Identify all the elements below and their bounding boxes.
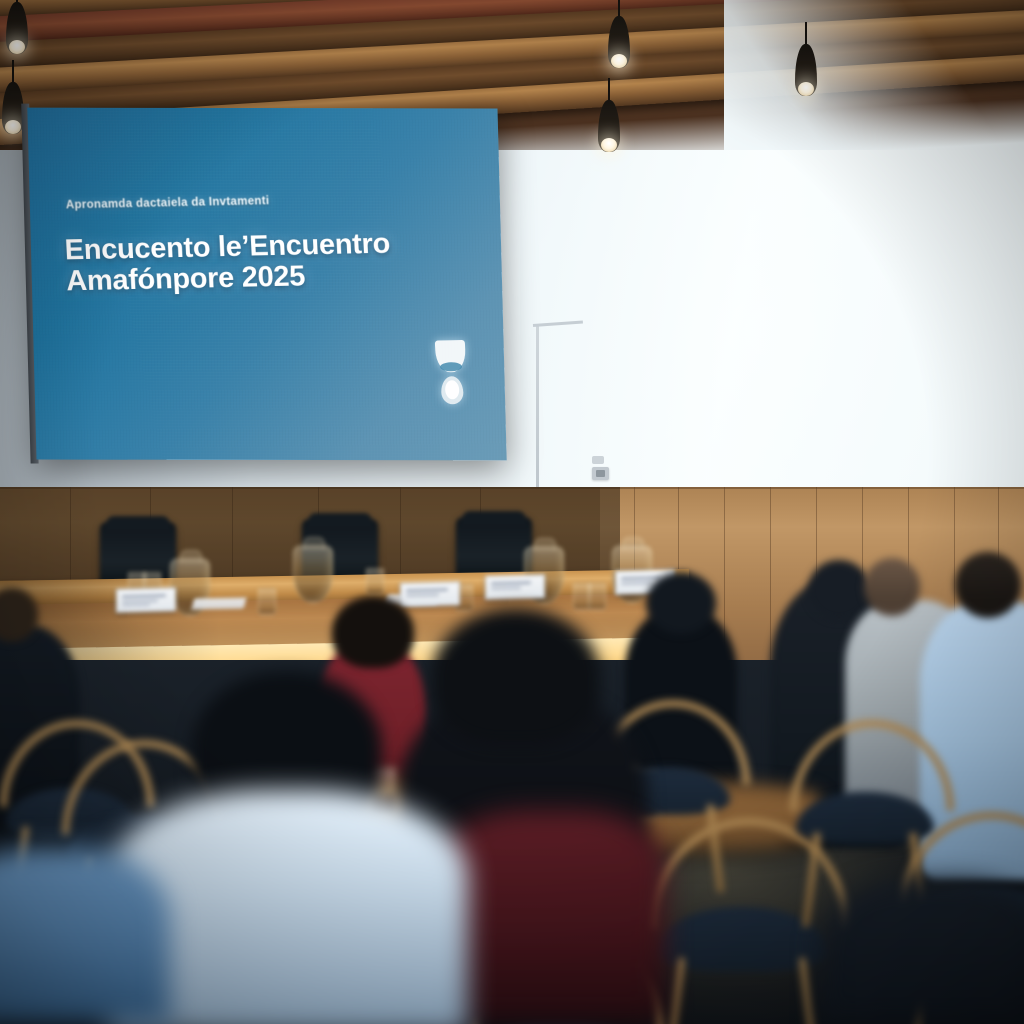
projected-slide: Apronamda dactaiela da Invtamenti Encuce… — [27, 108, 506, 461]
audience-head-curly-foreground — [432, 608, 600, 744]
audience-head-dark-hair-center — [646, 572, 716, 634]
placard-text-line — [406, 594, 439, 597]
cup-and-drop-logo-icon — [433, 340, 470, 409]
panel-glass-3 — [258, 588, 276, 615]
placard-text-line — [122, 594, 166, 597]
lamp-bulb — [5, 120, 21, 134]
audience-head-lightblue-shirt — [955, 552, 1021, 618]
placard-text-line — [491, 587, 521, 590]
audience-shoulder-red-foreground — [436, 810, 666, 1024]
name-placard-1 — [116, 587, 176, 613]
audience-head-bald-grey — [864, 558, 920, 616]
name-placard-2 — [400, 581, 460, 607]
lamp-bulb — [798, 82, 814, 96]
placard-text-line — [406, 589, 448, 592]
logo-cup-shape — [435, 340, 467, 373]
audience-person-far-right-dark — [820, 880, 1024, 1024]
chair-leg — [707, 804, 725, 893]
placard-text-line — [621, 577, 661, 580]
wall-socket-icon — [592, 467, 609, 480]
audience-head-curly-hair — [332, 596, 414, 668]
chair-leg — [802, 832, 821, 928]
panel-glass-4 — [366, 568, 384, 595]
panel-paper-1 — [192, 598, 247, 610]
water-carafe-2 — [293, 545, 333, 603]
chair-leg — [799, 957, 820, 1024]
panel-microphone-2 — [378, 520, 418, 582]
panel-glass-7 — [588, 583, 606, 610]
audience-person-far-left-blue — [0, 848, 170, 1024]
placard-text-line — [122, 604, 150, 607]
name-placard-3 — [485, 574, 545, 600]
conference-hall-photo: Apronamda dactaiela da Invtamenti Encuce… — [0, 0, 1024, 1024]
placard-text-line — [621, 582, 652, 585]
placard-text-line — [122, 600, 158, 603]
lamp-bulb — [601, 138, 617, 152]
logo-drop-shape — [441, 376, 464, 404]
lamp-bulb — [9, 40, 25, 54]
wall-switch-icon — [592, 456, 604, 464]
projection-screen: Apronamda dactaiela da Invtamenti Encuce… — [27, 108, 506, 461]
slide-title-line-1: Encucento le’Encuentro — [64, 228, 391, 267]
ceiling-edge-fade — [724, 0, 1024, 150]
audience-head-glasses-dark — [808, 560, 870, 620]
placard-text-line — [491, 582, 531, 585]
chair-leg — [663, 957, 684, 1024]
lamp-bulb — [611, 54, 627, 68]
slide-title: Encucento le’Encuentro Amafónpore 2025 — [64, 228, 487, 297]
